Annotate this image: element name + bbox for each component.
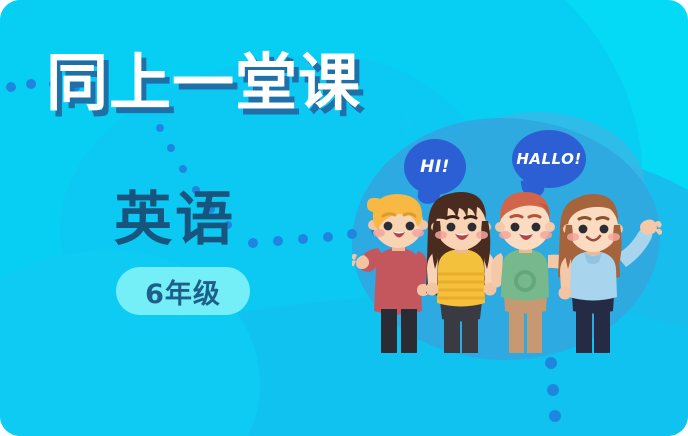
decor-dot (547, 384, 559, 396)
child-blond-boy (352, 194, 429, 355)
decor-dot (179, 165, 187, 173)
decor-dot (273, 236, 283, 246)
decor-dot (26, 79, 36, 89)
decor-dot (156, 124, 164, 132)
child-brownhair-girl (426, 192, 497, 357)
grade-badge: 6年级 (116, 267, 250, 315)
subject-title: 英语 (114, 190, 236, 248)
speech-bubble-hallo-text: HALLO! (516, 150, 581, 168)
decor-dot (248, 238, 258, 248)
decor-dot (323, 232, 333, 242)
child-auburn-girl (558, 194, 662, 357)
decor-dot (6, 82, 16, 92)
course-cover-card: 同上一堂课 英语 6年级 HI! HALLO! (0, 0, 688, 436)
decor-dot (298, 234, 308, 244)
page-title: 同上一堂课 (46, 52, 361, 114)
sparkle-icon (392, 106, 422, 140)
grade-badge-label: 6年级 (145, 272, 221, 311)
children-illustration (352, 185, 662, 360)
speech-bubble-hi-text: HI! (420, 157, 450, 177)
decor-dot (549, 410, 561, 422)
speech-bubble-hallo: HALLO! (512, 130, 586, 188)
decor-dot (167, 144, 175, 152)
